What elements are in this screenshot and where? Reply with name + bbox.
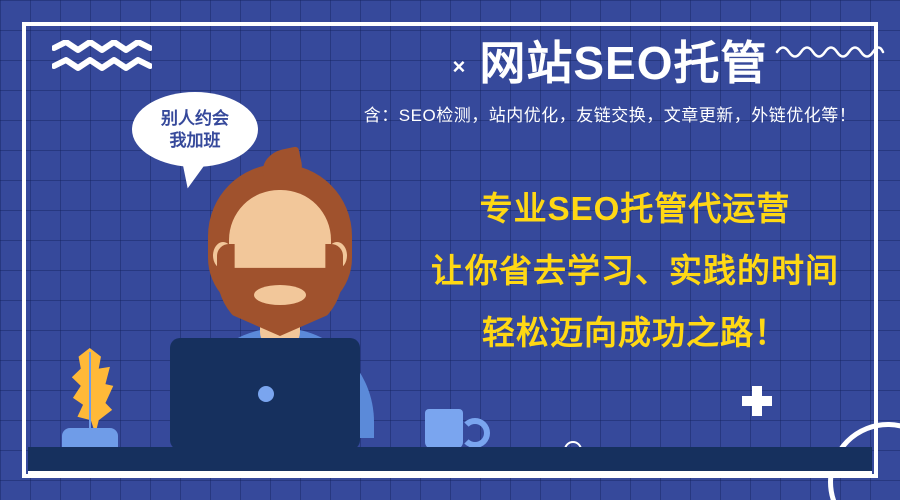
close-icon: × [452,56,465,78]
zigzag-wave-icon [52,40,152,76]
title-row: × 网站SEO托管 [330,38,890,89]
page-title: 网站SEO托管 [479,38,767,89]
banner-header: × 网站SEO托管 含：SEO检测，站内优化，友链交换，文章更新，外链优化等！ [330,38,890,126]
slogan-line-2: 让你省去学习、实践的时间 [390,254,880,287]
header-subtitle: 含：SEO检测，站内优化，友链交换，文章更新，外链优化等！ [330,101,890,126]
coffee-mug-icon [425,409,463,449]
speech-bubble-line-2: 我加班 [170,130,221,151]
laptop [170,338,360,450]
desk-edge-line [28,471,872,476]
mug-handle [460,418,490,448]
slogan-line-3: 轻松迈向成功之路！ [390,316,880,349]
desk-surface [28,447,872,471]
plant-leaf-icon [64,348,120,434]
plant-stem [89,352,91,432]
slogan-line-1: 专业SEO托管代运营 [390,192,880,225]
seo-hosting-banner: × 网站SEO托管 含：SEO检测，站内优化，友链交换，文章更新，外链优化等！ … [0,0,900,500]
mouth-shape [254,285,306,305]
plus-icon [742,386,772,416]
laptop-logo-icon [258,386,274,402]
speech-bubble-line-1: 别人约会 [161,108,229,129]
slogan-block: 专业SEO托管代运营 让你省去学习、实践的时间 轻松迈向成功之路！ [390,192,880,349]
